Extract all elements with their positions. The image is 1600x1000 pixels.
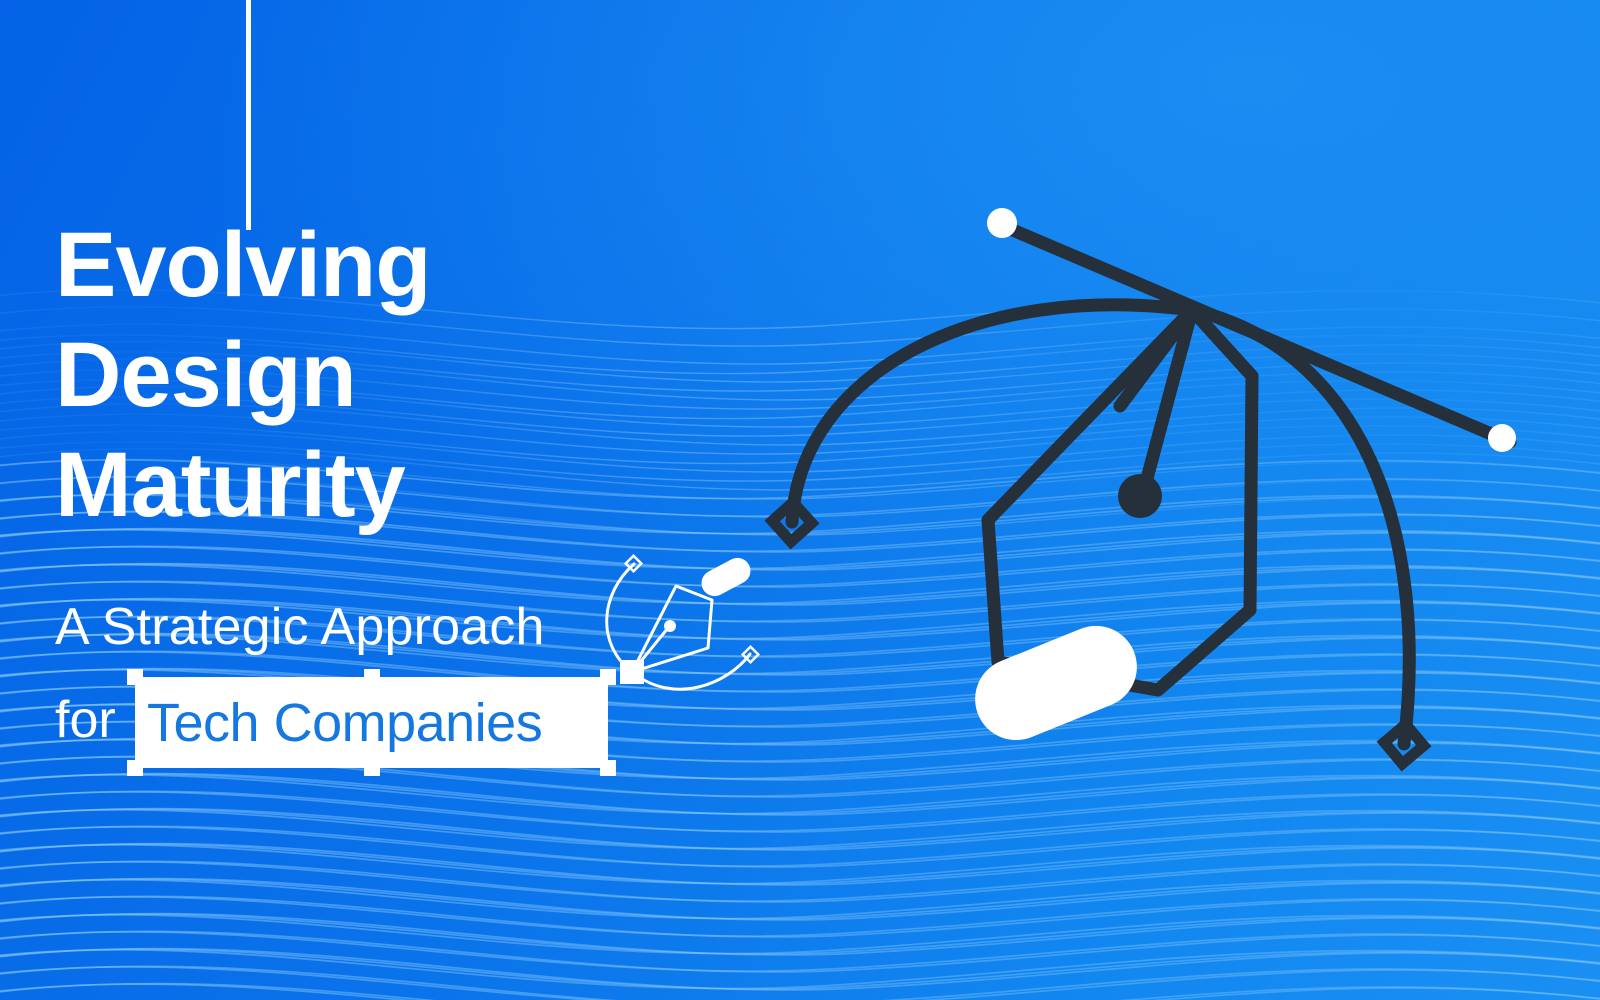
headline-line-3: Maturity [55, 430, 755, 540]
headline-line-1: Evolving [55, 210, 755, 320]
subtitle-line: A Strategic Approach [55, 597, 545, 657]
ink-dot [1118, 474, 1162, 518]
resize-handle-bottom-left[interactable] [127, 760, 143, 776]
resize-handle-top-left[interactable] [127, 669, 143, 685]
resize-handle-bottom-right[interactable] [600, 760, 616, 776]
headline-line-2: Design [55, 320, 755, 430]
round-handle-top-left [987, 208, 1017, 238]
mini-ink-dot [664, 620, 676, 632]
pen-nib-icon [588, 542, 768, 702]
mini-pen-cap [697, 553, 755, 600]
resize-handle-top-middle[interactable] [364, 669, 380, 685]
mini-square-anchor [620, 660, 644, 684]
poster-canvas: Evolving Design Maturity A Strategic App… [0, 0, 1600, 1000]
text-block: Evolving Design Maturity A Strategic App… [0, 0, 760, 1000]
selected-text-box[interactable]: Tech Companies [135, 677, 608, 768]
page-title: Evolving Design Maturity [55, 210, 755, 540]
subtitle-prefix: for [55, 690, 116, 750]
pen-nib-illustration [740, 170, 1560, 810]
resize-handle-bottom-middle[interactable] [364, 760, 380, 776]
text-box-value[interactable]: Tech Companies [135, 677, 608, 768]
round-handle-right [1488, 424, 1516, 452]
